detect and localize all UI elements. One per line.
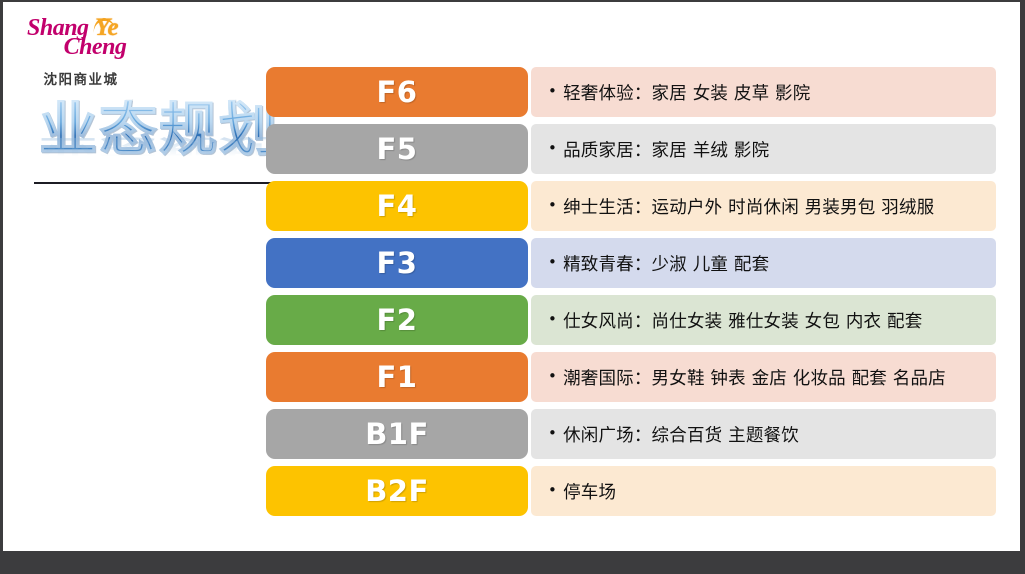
floor-code-badge[interactable]: F2 xyxy=(266,295,528,345)
bullet-icon: • xyxy=(548,369,557,384)
floor-row: F5•品质家居：家居 羊绒 影院 xyxy=(266,124,996,174)
floor-row: F6•轻奢体验：家居 女装 皮草 影院 xyxy=(266,67,996,117)
floor-description-text: 品质家居：家居 羊绒 影院 xyxy=(563,137,769,162)
slide-canvas: Shang Ye Cheng 沈阳商业城 业态规划 业态规划 F6•轻奢体验：家… xyxy=(3,2,1020,551)
page-title-text: 业态规划 xyxy=(39,100,289,158)
floor-row: B1F•休闲广场：综合百货 主题餐饮 xyxy=(266,409,996,459)
floor-description: •仕女风尚：尚仕女装 雅仕女装 女包 内衣 配套 xyxy=(531,295,996,345)
floor-description-text: 精致青春：少淑 儿童 配套 xyxy=(563,251,769,276)
bullet-icon: • xyxy=(548,141,557,156)
floor-code-badge[interactable]: B1F xyxy=(266,409,528,459)
bullet-icon: • xyxy=(548,255,557,270)
floor-description-text: 仕女风尚：尚仕女装 雅仕女装 女包 内衣 配套 xyxy=(563,308,922,333)
floor-row: F1•潮奢国际：男女鞋 钟表 金店 化妆品 配套 名品店 xyxy=(266,352,996,402)
floor-code-badge[interactable]: F6 xyxy=(266,67,528,117)
page-title: 业态规划 业态规划 xyxy=(39,100,289,190)
floor-code-badge[interactable]: F5 xyxy=(266,124,528,174)
floor-description: •停车场 xyxy=(531,466,996,516)
floor-description: •轻奢体验：家居 女装 皮草 影院 xyxy=(531,67,996,117)
floor-code-badge[interactable]: B2F xyxy=(266,466,528,516)
bullet-icon: • xyxy=(548,198,557,213)
floor-plan-list: F6•轻奢体验：家居 女装 皮草 影院F5•品质家居：家居 羊绒 影院F4•绅士… xyxy=(266,67,996,523)
floor-description-text: 潮奢国际：男女鞋 钟表 金店 化妆品 配套 名品店 xyxy=(563,365,946,390)
floor-row: F3•精致青春：少淑 儿童 配套 xyxy=(266,238,996,288)
floor-description-text: 休闲广场：综合百货 主题餐饮 xyxy=(563,422,799,447)
floor-description: •绅士生活：运动户外 时尚休闲 男装男包 羽绒服 xyxy=(531,181,996,231)
floor-row: B2F•停车场 xyxy=(266,466,996,516)
floor-description-text: 绅士生活：运动户外 时尚休闲 男装男包 羽绒服 xyxy=(563,194,934,219)
floor-description: •精致青春：少淑 儿童 配套 xyxy=(531,238,996,288)
brand-logo: Shang Ye Cheng 沈阳商业城 xyxy=(21,16,141,88)
floor-code-badge[interactable]: F3 xyxy=(266,238,528,288)
floor-code-badge[interactable]: F4 xyxy=(266,181,528,231)
logo-text-ye: Ye xyxy=(95,15,119,40)
floor-row: F2•仕女风尚：尚仕女装 雅仕女装 女包 内衣 配套 xyxy=(266,295,996,345)
bullet-icon: • xyxy=(548,483,557,498)
logo-wordmark: Shang Ye Cheng xyxy=(21,16,141,63)
floor-description: •潮奢国际：男女鞋 钟表 金店 化妆品 配套 名品店 xyxy=(531,352,996,402)
floor-description: •品质家居：家居 羊绒 影院 xyxy=(531,124,996,174)
bullet-icon: • xyxy=(548,426,557,441)
floor-description-text: 停车场 xyxy=(563,479,616,504)
bullet-icon: • xyxy=(548,312,557,327)
logo-chinese-name: 沈阳商业城 xyxy=(21,68,141,88)
floor-code-badge[interactable]: F1 xyxy=(266,352,528,402)
bullet-icon: • xyxy=(548,84,557,99)
floor-description: •休闲广场：综合百货 主题餐饮 xyxy=(531,409,996,459)
logo-text-cheng: Cheng xyxy=(21,35,155,59)
floor-description-text: 轻奢体验：家居 女装 皮草 影院 xyxy=(563,80,810,105)
title-underline xyxy=(34,182,272,184)
floor-row: F4•绅士生活：运动户外 时尚休闲 男装男包 羽绒服 xyxy=(266,181,996,231)
